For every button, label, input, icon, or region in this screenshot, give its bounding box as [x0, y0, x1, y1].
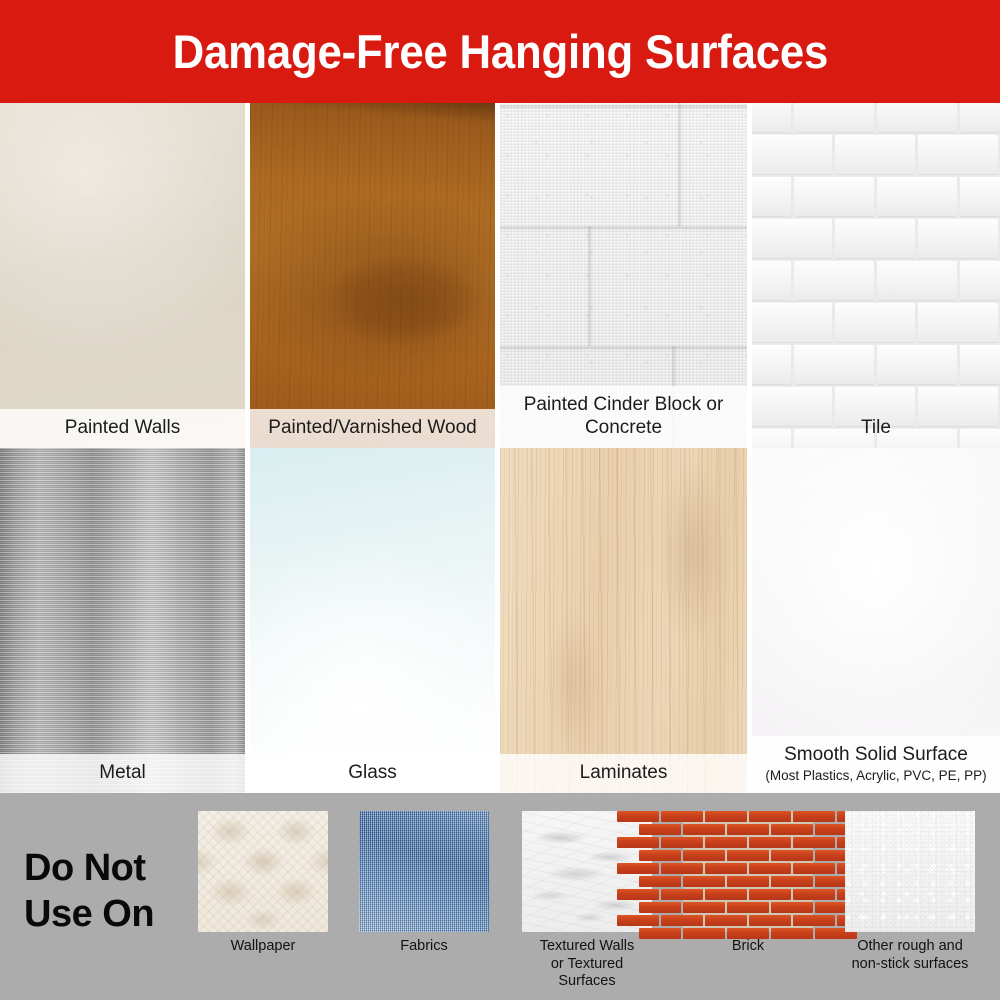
surface-tile-laminates: Laminates — [500, 448, 747, 793]
brick-unit — [683, 863, 703, 874]
brick-unit — [727, 928, 769, 932]
brick-unit — [793, 915, 813, 926]
infographic-page: Damage-Free Hanging Surfaces Painted Wal… — [0, 0, 1000, 1000]
brick-unit — [793, 889, 813, 900]
do-not-use-item-rough: Other rough and non-stick surfaces — [845, 811, 975, 973]
surface-label-painted-walls: Painted Walls — [0, 409, 245, 448]
mortar-joint — [500, 105, 747, 108]
denim-fabric-texture — [359, 811, 489, 932]
painted-walls-texture — [0, 103, 245, 448]
brick-unit — [705, 889, 747, 900]
brick-unit — [683, 902, 725, 913]
brick-unit — [771, 902, 813, 913]
brick-unit — [727, 876, 769, 887]
tile-unit — [835, 219, 915, 258]
tile-unit — [752, 345, 791, 384]
do-not-use-heading: Do Not Use On — [24, 845, 209, 937]
brick-unit — [705, 837, 747, 848]
brick-unit — [749, 811, 791, 822]
rough-line2: non-stick surfaces — [852, 956, 969, 972]
surface-tile-glass: Glass — [250, 448, 495, 793]
mortar-joint — [678, 103, 681, 226]
tile-unit — [877, 103, 957, 132]
brushed-metal-texture — [0, 448, 245, 793]
tile-unit — [960, 103, 1000, 132]
do-not-use-item-wallpaper: Wallpaper — [198, 811, 328, 956]
tile-unit — [752, 177, 791, 216]
brick-unit — [683, 824, 725, 835]
mortar-joint — [500, 226, 747, 229]
tile-unit — [877, 177, 957, 216]
brick-unit — [771, 876, 813, 887]
textured-walls-line2: or Textured Surfaces — [551, 956, 623, 990]
brick-unit — [683, 876, 725, 887]
brick-unit — [727, 902, 769, 913]
surface-tile-tile: Tile — [752, 103, 1000, 448]
surface-label-wood: Painted/Varnished Wood — [250, 409, 495, 448]
tile-unit — [918, 135, 998, 174]
brick-unit — [683, 850, 725, 861]
surface-tile-cinder-block: Painted Cinder Block or Concrete — [500, 103, 747, 448]
brick-unit — [749, 863, 791, 874]
tile-unit — [918, 219, 998, 258]
surface-label-smooth-solid: Smooth Solid Surface (Most Plastics, Acr… — [752, 736, 1000, 793]
brick-unit — [749, 915, 791, 926]
approved-surfaces-grid: Painted Walls Painted/Varnished Wood Pai… — [0, 103, 1000, 793]
glass-texture — [250, 448, 495, 793]
brick-unit — [793, 863, 813, 874]
rough-surface-texture — [845, 811, 975, 932]
do-not-use-label-brick: Brick — [683, 938, 813, 956]
brick-unit — [705, 811, 747, 822]
do-not-use-label-textured-walls: Textured Walls or Textured Surfaces — [522, 938, 652, 991]
surface-tile-smooth-solid: Smooth Solid Surface (Most Plastics, Acr… — [752, 448, 1000, 793]
brick-unit — [683, 928, 725, 932]
brick-unit — [771, 850, 813, 861]
brick-unit — [727, 824, 769, 835]
page-title: Damage-Free Hanging Surfaces — [172, 24, 828, 79]
surface-label-tile: Tile — [752, 409, 1000, 448]
subway-tile-texture — [752, 103, 1000, 448]
brick-unit — [683, 811, 703, 822]
surface-tile-painted-walls: Painted Walls — [0, 103, 245, 448]
brick-texture — [683, 811, 813, 932]
tile-unit — [877, 345, 957, 384]
wood-texture — [250, 103, 495, 448]
smooth-solid-title: Smooth Solid Surface — [784, 744, 968, 765]
do-not-use-heading-line1: Do Not — [24, 845, 209, 891]
do-not-use-item-fabrics: Fabrics — [359, 811, 489, 956]
brick-unit — [683, 889, 703, 900]
header-banner: Damage-Free Hanging Surfaces — [0, 0, 1000, 103]
brick-unit — [793, 837, 813, 848]
tile-unit — [960, 177, 1000, 216]
tile-unit — [794, 261, 874, 300]
tile-unit — [752, 135, 832, 174]
mortar-joint — [500, 346, 747, 349]
tile-unit — [794, 177, 874, 216]
do-not-use-label-wallpaper: Wallpaper — [198, 938, 328, 956]
tile-unit — [752, 261, 791, 300]
tile-unit — [877, 261, 957, 300]
tile-unit — [960, 345, 1000, 384]
do-not-use-heading-line2: Use On — [24, 891, 209, 937]
surface-label-metal: Metal — [0, 754, 245, 793]
surface-label-cinder-block: Painted Cinder Block or Concrete — [500, 386, 747, 448]
brick-unit — [705, 863, 747, 874]
surface-label-glass: Glass — [250, 754, 495, 793]
tile-unit — [835, 303, 915, 342]
mortar-joint — [588, 226, 591, 346]
brick-unit — [683, 915, 703, 926]
brick-unit — [771, 824, 813, 835]
brick-unit — [793, 811, 813, 822]
do-not-use-label-fabrics: Fabrics — [359, 938, 489, 956]
surface-label-laminates: Laminates — [500, 754, 747, 793]
laminate-texture — [500, 448, 747, 793]
tile-unit — [752, 303, 832, 342]
brick-unit — [727, 850, 769, 861]
wallpaper-texture — [198, 811, 328, 932]
tile-unit — [794, 345, 874, 384]
brick-unit — [771, 928, 813, 932]
do-not-use-label-rough: Other rough and non-stick surfaces — [845, 938, 975, 973]
tile-unit — [960, 261, 1000, 300]
tile-unit — [835, 135, 915, 174]
brick-unit — [749, 837, 791, 848]
tile-unit — [752, 219, 832, 258]
surface-tile-wood: Painted/Varnished Wood — [250, 103, 495, 448]
tile-unit — [794, 103, 874, 132]
rough-line1: Other rough and — [857, 938, 963, 954]
surface-tile-metal: Metal — [0, 448, 245, 793]
tile-unit — [918, 303, 998, 342]
brick-unit — [749, 889, 791, 900]
brick-unit — [705, 915, 747, 926]
textured-walls-line1: Textured Walls — [540, 938, 635, 954]
do-not-use-item-brick: Brick — [683, 811, 813, 956]
brick-unit — [683, 837, 703, 848]
smooth-solid-subtitle: (Most Plastics, Acrylic, PVC, PE, PP) — [756, 767, 996, 784]
tile-unit — [752, 103, 791, 132]
